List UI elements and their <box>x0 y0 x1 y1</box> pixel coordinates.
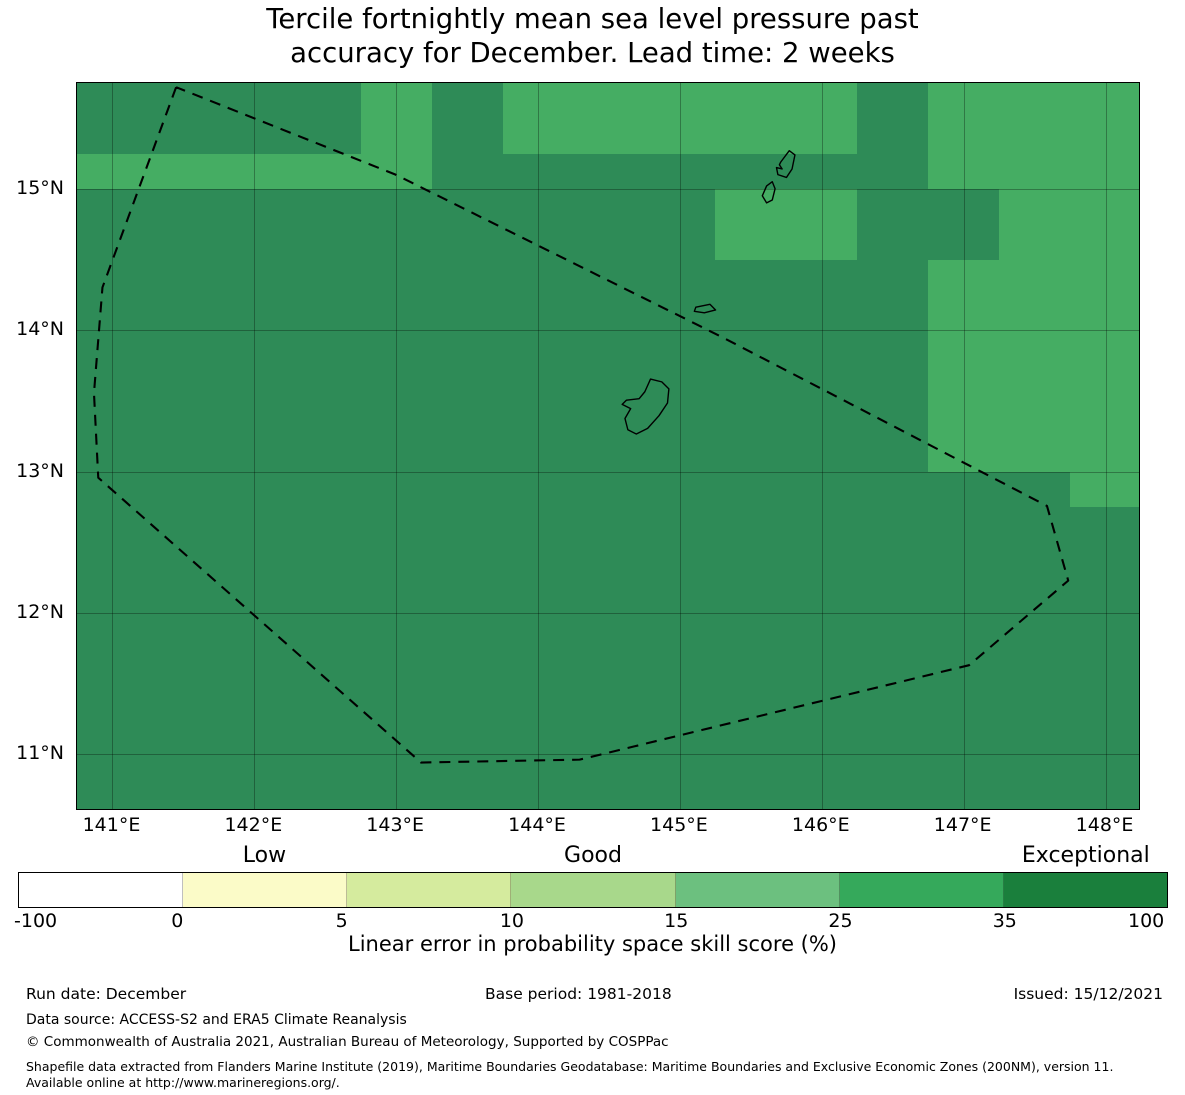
footer: Run date: December Base period: 1981-201… <box>0 985 1185 1007</box>
colorbar-tick-label: 10 <box>500 910 524 932</box>
x-axis-tick-label: 144°E <box>477 814 597 836</box>
colorbar[interactable] <box>18 872 1168 908</box>
page-title: Tercile fortnightly mean sea level press… <box>0 2 1185 70</box>
colorbar-quality-label: Exceptional <box>1022 843 1150 868</box>
data-source-text: Data source: ACCESS-S2 and ERA5 Climate … <box>26 1012 407 1028</box>
colorbar-segment[interactable] <box>1004 873 1167 907</box>
x-axis-tick-label: 143°E <box>335 814 455 836</box>
colorbar-segment[interactable] <box>347 873 511 907</box>
map-vector-overlay <box>77 83 1139 809</box>
x-axis-tick-label: 142°E <box>193 814 313 836</box>
colorbar-tick-label: -100 <box>14 910 57 932</box>
eez-boundary-line <box>94 87 1068 762</box>
colorbar-quality-label: Low <box>243 843 286 868</box>
x-axis-tick-label: 145°E <box>619 814 739 836</box>
x-axis-tick-label: 147°E <box>903 814 1023 836</box>
base-period-text: Base period: 1981-2018 <box>485 985 672 1003</box>
colorbar-segment[interactable] <box>511 873 675 907</box>
island-outlines <box>622 151 795 434</box>
copyright-text: © Commonwealth of Australia 2021, Austra… <box>26 1034 669 1050</box>
island-outline <box>622 379 669 434</box>
map-plot-area <box>76 82 1140 810</box>
y-axis-tick-label: 12°N <box>0 612 64 634</box>
colorbar-tick-label: 0 <box>171 910 183 932</box>
colorbar-segment[interactable] <box>183 873 347 907</box>
colorbar-tick-label: 35 <box>993 910 1017 932</box>
colorbar-segment[interactable] <box>840 873 1004 907</box>
colorbar-tick-label: 100 <box>1128 910 1164 932</box>
island-outline <box>694 304 715 312</box>
y-axis-tick-label: 15°N <box>0 188 64 210</box>
island-outline <box>762 182 775 203</box>
run-date-text: Run date: December <box>26 985 186 1003</box>
colorbar-segment[interactable] <box>19 873 183 907</box>
island-outline <box>776 151 794 178</box>
colorbar-quality-label: Good <box>564 843 622 868</box>
x-axis-tick-label: 141°E <box>51 814 171 836</box>
y-axis-tick-label: 14°N <box>0 329 64 351</box>
colorbar-axis-label: Linear error in probability space skill … <box>0 932 1185 956</box>
y-axis-tick-label: 11°N <box>0 753 64 775</box>
x-axis-tick-label: 148°E <box>1045 814 1165 836</box>
y-axis-tick-label: 13°N <box>0 471 64 493</box>
colorbar-tick-label: 25 <box>828 910 852 932</box>
colorbar-tick-label: 5 <box>336 910 348 932</box>
colorbar-tick-label: 15 <box>664 910 688 932</box>
colorbar-segment[interactable] <box>676 873 840 907</box>
issued-date-text: Issued: 15/12/2021 <box>1014 985 1163 1003</box>
footer-top-row: Run date: December Base period: 1981-201… <box>0 985 1185 1007</box>
shapefile-attribution-text: Shapefile data extracted from Flanders M… <box>26 1059 1171 1091</box>
colorbar-gradient[interactable] <box>18 872 1168 908</box>
x-axis-tick-label: 146°E <box>761 814 881 836</box>
